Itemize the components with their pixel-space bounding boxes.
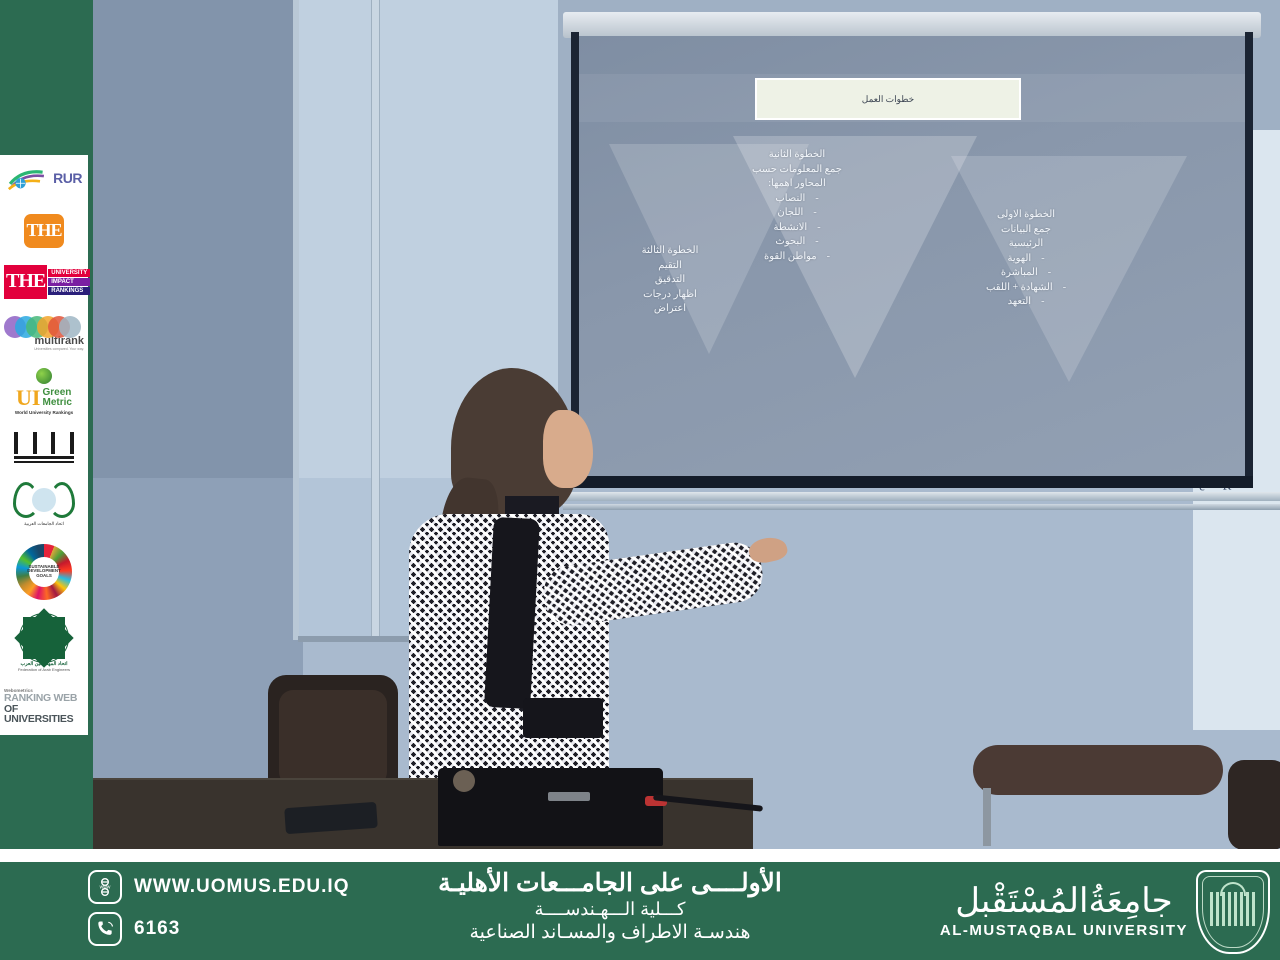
list-item: -مواطن القوة	[727, 250, 867, 265]
wall-rail-lower	[563, 504, 1280, 510]
footer-department: هندسـة الاطراف والمسـاند الصناعية	[330, 921, 890, 946]
wall-rail-upper	[563, 492, 1280, 501]
office-chair-right-post	[983, 788, 991, 846]
step-two-bullets: -النصاب -اللجان -الانشطة -البحوث -مواطن …	[727, 192, 867, 265]
phone-icon	[88, 912, 122, 946]
list-item: -النصاب	[727, 192, 867, 207]
laptop-sticker	[453, 770, 475, 792]
university-name-english: AL-MUSTAQBAL UNIVERSITY	[940, 922, 1188, 939]
step-one-bullet-2: الشهادة + اللقب	[986, 281, 1053, 296]
rur-arc-icon	[7, 167, 47, 193]
sdg-wheel-icon: SUSTAINABLE DEVELOPMENT GOALS	[16, 544, 72, 600]
sidebar-logo-webometrics[interactable]: Webometrics RANKING WEB OF UNIVERSITIES	[4, 688, 84, 725]
wreath-icon	[13, 480, 75, 520]
eight-point-star-icon	[23, 617, 65, 659]
sidebar-logo-ui-greenmetric[interactable]: UI Green Metric World University Ranking…	[4, 368, 84, 415]
footer-tagline: الأولــــى على الجامـــعات الأهليـة	[330, 868, 890, 898]
slide-step-one-text: الخطوة الاولى جمع البيانات الرئيسية -اله…	[951, 208, 1101, 310]
lecture-room-photo: = 160 = 90 4.5E 450 c² = f c² = R خطوات …	[93, 0, 1280, 849]
screen-bottom-bar	[571, 476, 1253, 488]
footer-college: كـــلية الـــهـندســــة	[330, 898, 890, 921]
page-footer: www WWW.UOMUS.EDU.IQ 6163 الأولــــى على…	[0, 862, 1280, 960]
step-one-heading: الخطوة الاولى	[951, 208, 1101, 223]
screenshot-root: RUR THE THE UNIVERSITY IMPACT RANKINGS	[0, 0, 1280, 960]
laptop-brand-logo	[548, 792, 590, 801]
step-two-bullet-3: البحوث	[775, 235, 805, 250]
whiteboard-frame-left	[293, 0, 299, 640]
sidebar-logo-rur[interactable]: RUR	[4, 163, 84, 197]
whiteboard-divider	[371, 0, 380, 640]
list-item: -الشهادة + اللقب	[951, 281, 1101, 296]
footer-website-row[interactable]: www WWW.UOMUS.EDU.IQ	[88, 870, 349, 904]
sidebar-logo-the[interactable]: THE	[4, 214, 84, 248]
slide-title-text: خطوات العمل	[862, 94, 914, 105]
list-item: -التعهد	[951, 295, 1101, 310]
sidebar-logo-multirank[interactable]: multirank Universities compared. Your wa…	[4, 315, 84, 351]
sidebar-logo-arab-universities[interactable]: اتحاد الجامعات العربية	[4, 480, 84, 527]
rankings-sidebar: RUR THE THE UNIVERSITY IMPACT RANKINGS	[0, 155, 88, 735]
slide-step-three-text: الخطوة الثالثة التقيم التدقيق اظهار درجا…	[595, 244, 745, 317]
sidebar-logo-sdg[interactable]: SUSTAINABLE DEVELOPMENT GOALS	[4, 544, 84, 600]
step-one-bullet-3: التعهد	[1008, 295, 1032, 310]
multirank-sub: Universities compared. Your way.	[4, 347, 84, 351]
jacket-pocket	[523, 698, 603, 738]
projected-slide: خطوات العمل الخطوة الثانية جمع المعلومات…	[579, 36, 1245, 476]
sidebar-logo-the-impact[interactable]: THE UNIVERSITY IMPACT RANKINGS	[4, 265, 84, 299]
green-globe-icon	[36, 368, 52, 384]
list-item: -البحوث	[727, 235, 867, 250]
step-one-line-1: الرئيسية	[951, 237, 1101, 252]
the-impact-line1: UNIVERSITY	[48, 269, 90, 277]
office-chair-far-right	[1228, 760, 1280, 849]
step-two-bullet-4: مواطن القوة	[764, 250, 817, 265]
list-item: -الانشطة	[727, 221, 867, 236]
webometrics-line2: OF UNIVERSITIES	[4, 704, 84, 725]
step-two-bullet-2: الانشطة	[773, 221, 807, 236]
step-one-bullets: -الهوية -المباشرة -الشهادة + اللقب -التع…	[951, 252, 1101, 310]
temple-columns-icon	[14, 432, 74, 463]
www-globe-icon: www	[88, 870, 122, 904]
arab-universities-label: اتحاد الجامعات العربية	[6, 521, 82, 527]
step-three-heading: الخطوة الثالثة	[595, 244, 745, 259]
list-item: -الهوية	[951, 252, 1101, 267]
slide-step-two-text: الخطوة الثانية جمع المعلومات حسب المحاور…	[727, 148, 867, 264]
step-three-line-0: التقيم	[595, 259, 745, 274]
step-one-line-0: جمع البيانات	[951, 223, 1101, 238]
step-two-heading: الخطوة الثانية	[727, 148, 867, 163]
footer-university-brand: جامِعَةُالمُسْتَقْبل AL-MUSTAQBAL UNIVER…	[940, 870, 1270, 954]
footer-contact-block: www WWW.UOMUS.EDU.IQ 6163	[88, 870, 349, 946]
step-one-bullet-0: الهوية	[1007, 252, 1031, 267]
face-profile	[543, 410, 593, 488]
university-crest-icon	[1196, 870, 1270, 954]
greenmetric-line2: Metric	[43, 397, 72, 408]
svg-text:www: www	[100, 885, 111, 891]
step-one-bullet-1: المباشرة	[1001, 266, 1038, 281]
step-three-line-3: اعتراض	[595, 302, 745, 317]
the-impact-label: THE	[4, 265, 47, 299]
list-item: -المباشرة	[951, 266, 1101, 281]
step-three-line-1: التدقيق	[595, 273, 745, 288]
greenmetric-sub: World University Rankings	[4, 410, 84, 415]
step-two-line-0: جمع المعلومات حسب	[727, 163, 867, 178]
the-impact-line3: RANKINGS	[48, 287, 90, 295]
sidebar-logo-arab-engineers[interactable]: اتحاد المهندسين العرب Federation of Arab…	[4, 617, 84, 672]
university-name-arabic: جامِعَةُالمُسْتَقْبل	[940, 885, 1188, 919]
rur-label: RUR	[53, 170, 82, 186]
sdg-label: SUSTAINABLE DEVELOPMENT GOALS	[27, 565, 60, 580]
footer-arabic-block: الأولــــى على الجامـــعات الأهليـة كـــ…	[330, 868, 890, 945]
sidebar-logo-temple[interactable]	[4, 432, 84, 463]
projector-screen-casing	[563, 12, 1261, 38]
step-two-bullet-1: اللجان	[777, 206, 803, 221]
step-three-line-2: اظهار درجات	[595, 288, 745, 303]
multirank-circles-icon	[4, 315, 84, 339]
footer-phone-row[interactable]: 6163	[88, 912, 349, 946]
ui-greenmetric-label: UI	[16, 387, 40, 409]
greenmetric-line1: Green	[43, 387, 72, 398]
list-item: -اللجان	[727, 206, 867, 221]
slide-title-box: خطوات العمل	[755, 78, 1021, 120]
footer-phone-text: 6163	[134, 918, 180, 940]
footer-website-text: WWW.UOMUS.EDU.IQ	[134, 876, 349, 898]
step-two-line-1: المحاور اهمها:	[727, 177, 867, 192]
office-chair-left-cushion	[279, 690, 387, 786]
office-chair-right-backrest	[973, 745, 1223, 795]
screen-edge-right	[1245, 32, 1253, 484]
the-impact-line2: IMPACT	[48, 278, 90, 286]
step-two-bullet-0: النصاب	[775, 192, 805, 207]
photo-footer-gap	[0, 849, 1280, 862]
the-label: THE	[26, 220, 61, 241]
